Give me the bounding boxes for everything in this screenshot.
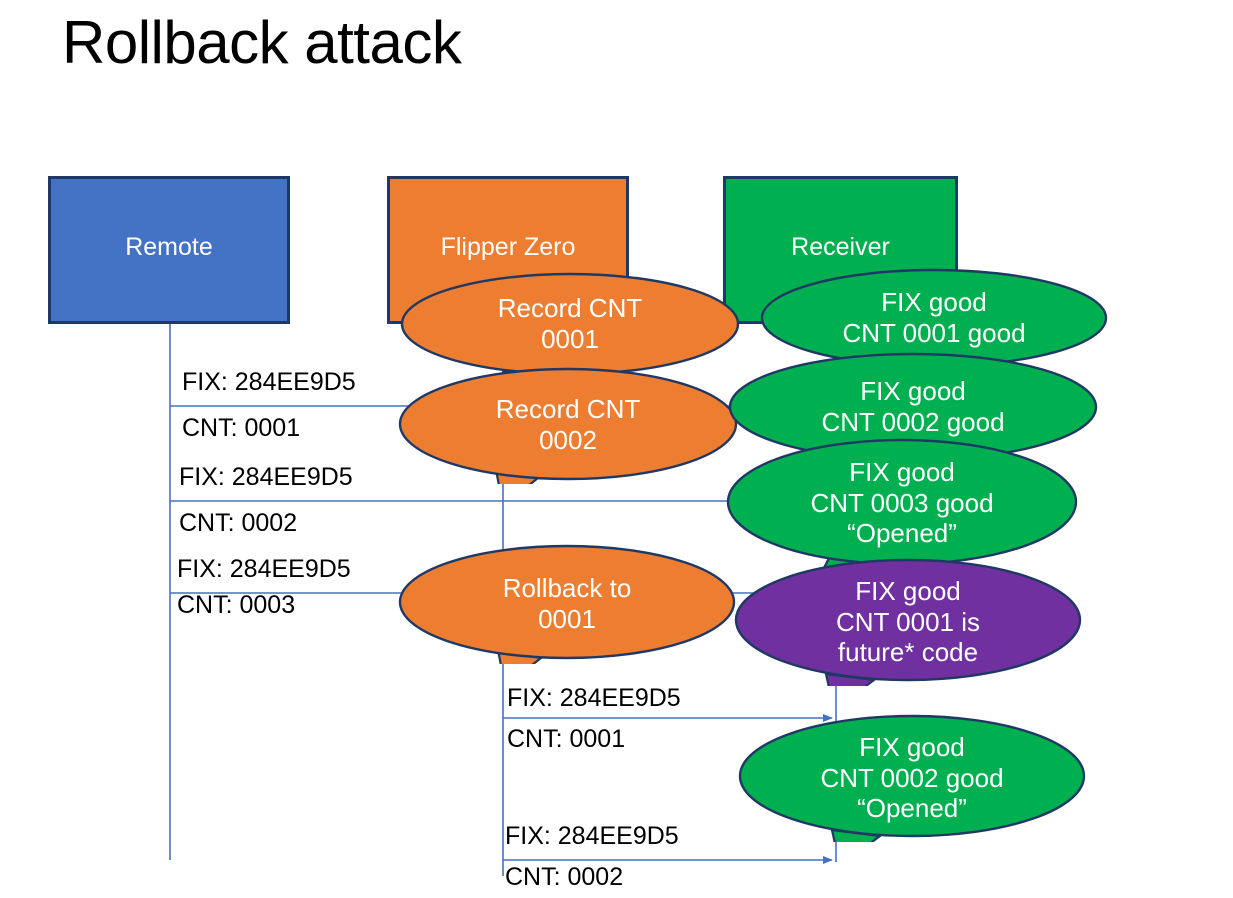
callout-line: CNT 0001 good	[774, 318, 1094, 349]
callout-line: 0001	[414, 324, 726, 355]
callout-text: FIX good CNT 0003 good “Opened”	[726, 457, 1078, 549]
callout-line: “Opened”	[752, 793, 1072, 824]
callout-record-cnt-0002[interactable]: Record CNT 0002	[398, 366, 738, 484]
callout-line: FIX good	[752, 732, 1072, 763]
callout-line: future* code	[748, 637, 1068, 668]
callout-fix-good-cnt-0002-opened[interactable]: FIX good CNT 0002 good “Opened”	[738, 714, 1086, 842]
callout-rollback-to-0001[interactable]: Rollback to 0001	[398, 544, 736, 664]
message-cnt-m4: CNT: 0001	[507, 725, 625, 754]
message-cnt-m2: CNT: 0002	[179, 509, 297, 538]
callout-line: 0001	[412, 604, 722, 635]
actor-label-receiver: Receiver	[791, 233, 890, 262]
message-fix-m5: FIX: 284EE9D5	[505, 822, 679, 851]
message-cnt-m3: CNT: 0003	[177, 591, 295, 620]
callout-line: Record CNT	[412, 394, 724, 425]
message-fix-m3: FIX: 284EE9D5	[177, 555, 351, 584]
callout-line: CNT 0002 good	[742, 407, 1084, 438]
callout-record-cnt-0001[interactable]: Record CNT 0001	[400, 272, 740, 376]
message-cnt-m5: CNT: 0002	[505, 863, 623, 892]
actor-label-flipper: Flipper Zero	[441, 233, 576, 262]
callout-line: CNT 0003 good	[740, 488, 1064, 519]
callout-line: FIX good	[774, 287, 1094, 318]
callout-line: FIX good	[742, 376, 1084, 407]
callout-line: CNT 0002 good	[752, 763, 1072, 794]
message-cnt-m1: CNT: 0001	[182, 414, 300, 443]
slide-canvas: Rollback attack Remote Flipper Zero Rece…	[0, 0, 1233, 898]
callout-text: FIX good CNT 0001 is future* code	[734, 576, 1082, 668]
callout-text: Record CNT 0002	[398, 394, 738, 455]
callout-line: Rollback to	[412, 573, 722, 604]
callout-text: Record CNT 0001	[400, 293, 740, 354]
message-fix-m1: FIX: 284EE9D5	[182, 368, 356, 397]
actor-label-remote: Remote	[125, 233, 213, 262]
callout-text: FIX good CNT 0002 good “Opened”	[738, 732, 1086, 824]
callout-line: Record CNT	[414, 293, 726, 324]
callout-text: Rollback to 0001	[398, 573, 736, 634]
callout-line: “Opened”	[740, 518, 1064, 549]
actor-box-remote[interactable]: Remote	[48, 176, 290, 324]
message-fix-m4: FIX: 284EE9D5	[507, 684, 681, 713]
message-fix-m2: FIX: 284EE9D5	[179, 463, 353, 492]
callout-fix-good-cnt-0003-opened[interactable]: FIX good CNT 0003 good “Opened”	[726, 438, 1078, 568]
callout-text: FIX good CNT 0002 good	[728, 376, 1098, 437]
callout-line: FIX good	[748, 576, 1068, 607]
callout-line: FIX good	[740, 457, 1064, 488]
callout-line: 0002	[412, 425, 724, 456]
callout-text: FIX good CNT 0001 good	[760, 287, 1108, 348]
callout-future-code[interactable]: FIX good CNT 0001 is future* code	[734, 558, 1082, 686]
callout-line: CNT 0001 is	[748, 607, 1068, 638]
